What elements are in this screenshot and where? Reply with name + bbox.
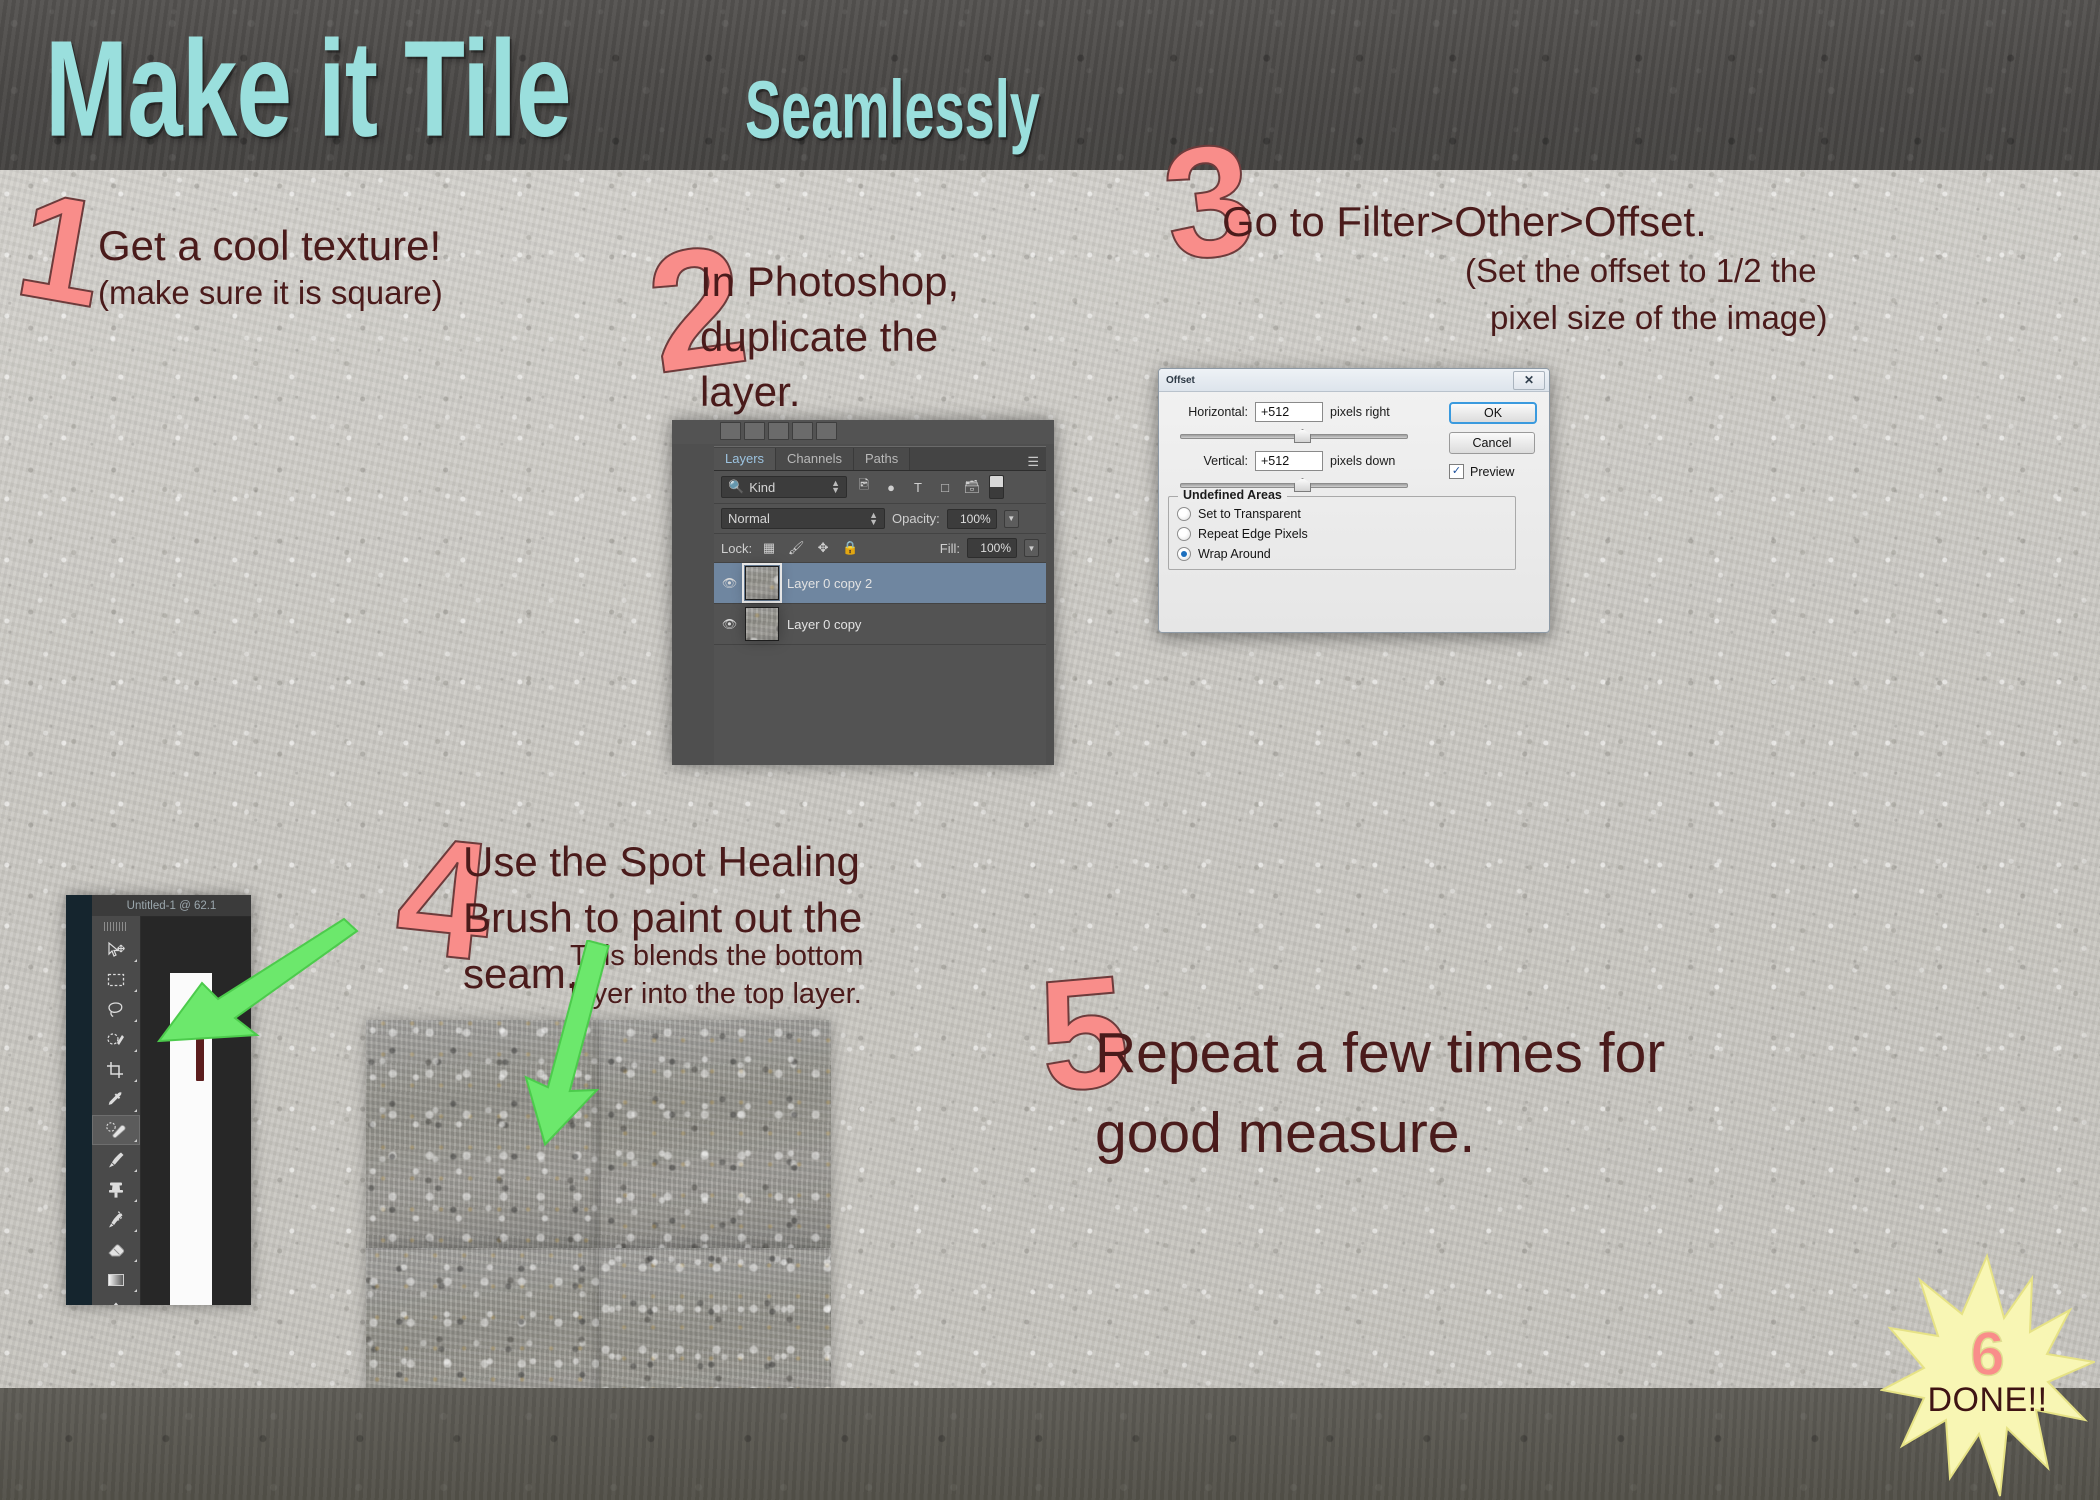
slider-thumb[interactable]: [1294, 429, 1311, 443]
fill-value[interactable]: 100%: [967, 538, 1017, 558]
tool-corner-icon: [134, 1259, 137, 1262]
horizontal-slider[interactable]: [1180, 429, 1408, 441]
lock-all-icon[interactable]: 🔒: [840, 539, 860, 557]
footer-band: [0, 1388, 2100, 1500]
eraser-tool[interactable]: [92, 1235, 140, 1265]
adjustment-levels-icon[interactable]: [744, 422, 765, 440]
layers-panel-inner: Layers Channels Paths ☰ 🔍 Kind ▲▼ 🖻 ● T …: [714, 446, 1046, 765]
radio-wrap-around[interactable]: Wrap Around: [1177, 547, 1507, 561]
layer-name: Layer 0 copy: [787, 617, 861, 632]
step-4-line3: seam.: [463, 950, 577, 997]
vertical-label: Vertical:: [1168, 454, 1248, 468]
ok-button[interactable]: OK: [1449, 402, 1537, 424]
tool-corner-icon: [134, 1109, 137, 1112]
radio-icon[interactable]: [1177, 507, 1191, 521]
adjustment-vibrance-icon[interactable]: [816, 422, 837, 440]
step-3-subtext-line1: (Set the offset to 1/2 the: [1465, 253, 1817, 290]
type-layer-icon[interactable]: T: [908, 478, 928, 496]
opacity-label: Opacity:: [892, 511, 940, 526]
workspace-edge: [66, 895, 92, 1305]
document-brush-stroke: [196, 1023, 204, 1081]
opacity-value[interactable]: 100%: [947, 509, 997, 529]
crop-tool[interactable]: [92, 1055, 140, 1085]
tool-corner-icon: [134, 1199, 137, 1202]
preview-checkbox[interactable]: ✓: [1449, 464, 1464, 479]
horizontal-seam: [366, 1248, 831, 1250]
tool-corner-icon: [134, 1049, 137, 1052]
adjustment-curves-icon[interactable]: [768, 422, 789, 440]
step-2-line1: In Photoshop,: [700, 258, 959, 305]
radio-set-to-transparent[interactable]: Set to Transparent: [1177, 507, 1507, 521]
fill-label: Fill:: [940, 541, 960, 556]
search-icon: 🔍: [728, 479, 744, 495]
toolbar-grip[interactable]: [104, 922, 128, 931]
done-starburst: 6 DONE!!: [1880, 1250, 2095, 1500]
tool-corner-icon: [134, 1169, 137, 1172]
vertical-input[interactable]: [1255, 451, 1323, 471]
undefined-areas-legend: Undefined Areas: [1178, 488, 1287, 502]
step-1-subtext: (make sure it is square): [98, 275, 443, 312]
step-4-line2: Brush to paint out the: [463, 894, 862, 941]
step-4-note-line1: This blends the bottom: [570, 940, 863, 972]
step-3-subtext-line2: pixel size of the image): [1490, 300, 1828, 337]
lock-row: Lock: ▦ 🖌 ✥ 🔒 Fill: 100% ▼: [714, 534, 1046, 563]
poster-root: Make it Tile Seamlessly 1 Get a cool tex…: [0, 0, 2100, 1500]
tool-corner-icon: [134, 1229, 137, 1232]
radio-icon[interactable]: [1177, 527, 1191, 541]
offset-dialog-body: OK Cancel ✓ Preview Horizontal: pixels r…: [1159, 392, 1549, 579]
lock-image-icon[interactable]: 🖌: [786, 539, 806, 557]
eyedropper-tool[interactable]: [92, 1085, 140, 1115]
offset-dialog-titlebar: Offset ✕: [1159, 369, 1549, 392]
photoshop-tool-window[interactable]: Untitled-1 @ 62.1: [66, 895, 251, 1305]
radio-repeat-edge-pixels[interactable]: Repeat Edge Pixels: [1177, 527, 1507, 541]
step-2-line2: duplicate the: [700, 313, 938, 360]
layer-row-1[interactable]: 👁 Layer 0 copy: [714, 604, 1046, 645]
page-title: Make it Tile: [45, 20, 571, 157]
gradient-tool[interactable]: [92, 1265, 140, 1295]
done-label: DONE!!: [1927, 1381, 2047, 1420]
step-number-6: 6: [1970, 1330, 2004, 1380]
tool-corner-icon: [134, 1139, 137, 1142]
blend-mode-row: Normal ▲▼ Opacity: 100% ▼: [714, 504, 1046, 534]
step-5-line1: Repeat a few times for: [1095, 1022, 1665, 1086]
layer-filter-row: 🔍 Kind ▲▼ 🖻 ● T □ 🗃: [714, 471, 1046, 504]
panel-menu-icon[interactable]: ☰: [1027, 454, 1046, 470]
chevron-updown-icon: ▲▼: [831, 480, 840, 494]
eye-icon[interactable]: 👁: [722, 617, 737, 631]
close-icon[interactable]: ✕: [1513, 371, 1545, 390]
lock-transparency-icon[interactable]: ▦: [759, 539, 779, 557]
blur-tool[interactable]: [92, 1295, 140, 1305]
rectangular-marquee-tool[interactable]: [92, 965, 140, 995]
lock-label: Lock:: [721, 541, 752, 556]
radio-label: Wrap Around: [1198, 547, 1271, 561]
step-number-2: 2: [641, 234, 754, 385]
tab-layers[interactable]: Layers: [714, 448, 776, 470]
layer-name: Layer 0 copy 2: [787, 576, 872, 591]
horizontal-label: Horizontal:: [1168, 405, 1248, 419]
preview-label: Preview: [1470, 465, 1514, 479]
adjustment-brightness-icon[interactable]: [720, 422, 741, 440]
slider-thumb[interactable]: [1294, 478, 1311, 492]
document-canvas: [170, 973, 212, 1305]
blend-mode-select[interactable]: Normal ▲▼: [721, 508, 885, 529]
adjustment-layer-icon[interactable]: ●: [881, 478, 901, 496]
shape-layer-icon[interactable]: □: [935, 478, 955, 496]
lock-position-icon[interactable]: ✥: [813, 539, 833, 557]
header-band: Make it Tile Seamlessly: [0, 0, 2100, 170]
tool-corner-icon: [134, 959, 137, 962]
blend-mode-value: Normal: [728, 511, 770, 526]
chevron-updown-icon: ▲▼: [869, 512, 878, 526]
brush-tool[interactable]: [92, 1145, 140, 1175]
adjustments-strip: [672, 420, 1054, 444]
starburst-content: 6 DONE!!: [1880, 1250, 2095, 1500]
radio-label: Set to Transparent: [1198, 507, 1301, 521]
photoshop-toolbar[interactable]: [92, 916, 141, 1305]
clone-stamp-tool[interactable]: [92, 1175, 140, 1205]
layers-panel-tabs: Layers Channels Paths ☰: [714, 447, 1046, 471]
spot-healing-brush-tool[interactable]: [92, 1115, 140, 1145]
step-5-line2: good measure.: [1095, 1102, 1475, 1166]
horizontal-units: pixels right: [1330, 405, 1390, 419]
offset-dialog[interactable]: Offset ✕ OK Cancel ✓ Preview Horizontal:…: [1158, 368, 1550, 633]
layer-row-0[interactable]: 👁 Layer 0 copy 2: [714, 563, 1046, 604]
tab-channels[interactable]: Channels: [776, 448, 854, 470]
adjustment-exposure-icon[interactable]: [792, 422, 813, 440]
tool-corner-icon: [134, 1079, 137, 1082]
adjustment-icons-row: [720, 422, 837, 440]
history-brush-tool[interactable]: [92, 1205, 140, 1235]
opacity-dropdown-icon[interactable]: ▼: [1004, 510, 1019, 528]
step-3-heading: Go to Filter>Other>Offset.: [1222, 198, 1707, 245]
radio-label: Repeat Edge Pixels: [1198, 527, 1308, 541]
lasso-tool[interactable]: [92, 995, 140, 1025]
step-4-line1: Use the Spot Healing: [463, 838, 860, 885]
step-2-line3: layer.: [700, 368, 800, 415]
radio-icon[interactable]: [1177, 547, 1191, 561]
photoshop-layers-panel[interactable]: Layers Channels Paths ☰ 🔍 Kind ▲▼ 🖻 ● T …: [672, 420, 1054, 765]
fill-dropdown-icon[interactable]: ▼: [1024, 539, 1039, 557]
vertical-units: pixels down: [1330, 454, 1395, 468]
pixel-layer-icon[interactable]: 🖻: [854, 478, 874, 496]
move-tool[interactable]: [92, 935, 140, 965]
layer-thumbnail: [745, 566, 779, 600]
filter-toggle[interactable]: [989, 475, 1004, 499]
smart-object-icon[interactable]: 🗃: [962, 478, 982, 496]
document-title: Untitled-1 @ 62.1: [92, 895, 251, 917]
offset-dialog-title: Offset: [1163, 375, 1195, 386]
tab-paths[interactable]: Paths: [854, 448, 910, 470]
step-1-heading: Get a cool texture!: [98, 222, 441, 269]
undefined-areas-group: Undefined Areas Set to Transparent Repea…: [1168, 496, 1516, 570]
filter-kind-label: Kind: [749, 480, 775, 495]
tool-corner-icon: [134, 1019, 137, 1022]
cancel-button[interactable]: Cancel: [1449, 432, 1535, 454]
tool-corner-icon: [134, 1289, 137, 1292]
tool-corner-icon: [134, 989, 137, 992]
eye-icon[interactable]: 👁: [722, 576, 737, 590]
horizontal-input[interactable]: [1255, 402, 1323, 422]
step-4-note-line2: layer into the top layer.: [570, 978, 862, 1010]
filter-kind-select[interactable]: 🔍 Kind ▲▼: [721, 476, 847, 498]
quick-selection-tool[interactable]: [92, 1025, 140, 1055]
page-subtitle: Seamlessly: [745, 68, 1040, 150]
layer-thumbnail: [745, 607, 779, 641]
